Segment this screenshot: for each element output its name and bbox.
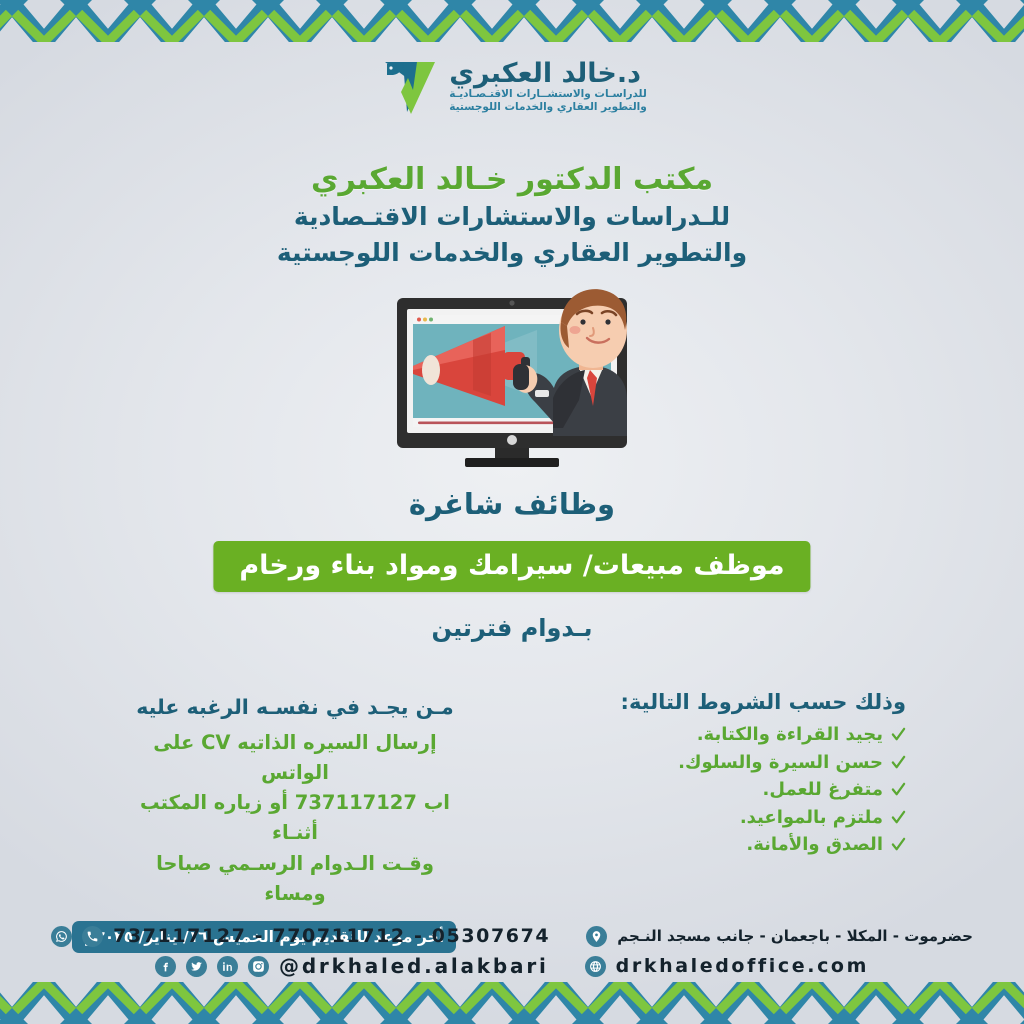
check-icon [891, 727, 906, 742]
condition-item: حسن السيرة والسلوك. [576, 752, 906, 773]
footer-row-social: @drkhaled.alakbari drkhaledoffice.com [155, 954, 869, 978]
poster-canvas: د.خالد العكبري للدراسـات والاستشــارات ا… [0, 0, 1024, 1024]
facebook-icon[interactable] [155, 956, 176, 977]
apply-line-2: اب 737117127 أو زياره المكتب أثنـاء [134, 788, 456, 848]
linkedin-icon[interactable] [217, 956, 238, 977]
poster-heading: مكتب الدكتور خـالد العكبري للـدراسات وال… [0, 160, 1024, 270]
condition-text: متفرغ للعمل. [763, 779, 883, 800]
job-title-banner: موظف مبيعات/ سيرامك ومواد بناء ورخام [213, 541, 810, 592]
apply-line-3: وقـت الـدوام الرسـمي صباحا ومساء [134, 849, 456, 909]
condition-text: ملتزم بالمواعيد. [740, 807, 883, 828]
apply-column: مـن يجـد في نفسـه الرغبه عليه إرسال السي… [134, 694, 456, 953]
footer-row-phones: 737117127 - 770711712 - 05307674 حضرموت … [51, 925, 973, 947]
conditions-column: وذلك حسب الشروط التالية: يجيد القراءة وا… [576, 690, 906, 862]
footer-address: حضرموت - المكلا - باجعمان - جانب مسجد ال… [617, 927, 973, 945]
twitter-icon[interactable] [186, 956, 207, 977]
footer-contact-bar: 737117127 - 770711712 - 05307674 حضرموت … [0, 925, 1024, 978]
monitor-megaphone-graphic [387, 278, 637, 483]
condition-text: حسن السيرة والسلوك. [678, 752, 883, 773]
footer-phone-numbers[interactable]: 737117127 - 770711712 - 05307674 [113, 925, 550, 947]
illustration-man-with-megaphone [387, 278, 637, 487]
heading-line-3: والتطوير العقاري والخدمات اللوجستية [0, 235, 1024, 271]
logo-tagline-2: والتطوير العقاري والخدمات اللوجستية [449, 101, 647, 114]
heading-line-1: مكتب الدكتور خـالد العكبري [0, 160, 1024, 199]
brand-logo: د.خالد العكبري للدراسـات والاستشــارات ا… [0, 56, 1024, 118]
zigzag-pattern-bottom [0, 982, 1024, 1024]
location-pin-icon [586, 926, 607, 947]
decorative-border-bottom [0, 982, 1024, 1024]
condition-item: ملتزم بالمواعيد. [576, 807, 906, 828]
logo-name: د.خالد العكبري [449, 60, 647, 88]
apply-heading: مـن يجـد في نفسـه الرغبه عليه [134, 694, 456, 722]
zigzag-pattern-top [0, 0, 1024, 42]
footer-website[interactable]: drkhaledoffice.com [616, 955, 869, 977]
condition-item: متفرغ للعمل. [576, 779, 906, 800]
check-icon [891, 837, 906, 852]
logo-tagline-1: للدراسـات والاستشــارات الاقتـصـاديـة [449, 88, 647, 101]
job-title-text: موظف مبيعات/ سيرامك ومواد بناء ورخام [239, 550, 784, 581]
phone-icon[interactable] [82, 926, 103, 947]
heading-line-2: للـدراسات والاستشارات الاقتـصادية [0, 199, 1024, 235]
vacancy-title: وظائف شاغرة [0, 487, 1024, 521]
footer-social-handle[interactable]: @drkhaled.alakbari [279, 954, 549, 978]
check-icon [891, 810, 906, 825]
check-icon [891, 782, 906, 797]
shift-info: بـدوام فترتين [0, 614, 1024, 642]
whatsapp-icon[interactable] [51, 926, 72, 947]
eagle-checkmark-logo-icon [377, 56, 439, 118]
instagram-icon[interactable] [248, 956, 269, 977]
check-icon [891, 755, 906, 770]
condition-item: يجيد القراءة والكتابة. [576, 724, 906, 745]
condition-text: يجيد القراءة والكتابة. [697, 724, 883, 745]
apply-line-1: إرسال السيره الذاتيه CV على الواتس [134, 728, 456, 788]
condition-text: الصدق والأمانة. [746, 834, 883, 855]
decorative-border-top [0, 0, 1024, 42]
logo-text-group: د.خالد العكبري للدراسـات والاستشــارات ا… [449, 60, 647, 115]
condition-item: الصدق والأمانة. [576, 834, 906, 855]
conditions-heading: وذلك حسب الشروط التالية: [576, 690, 906, 714]
globe-icon [585, 956, 606, 977]
